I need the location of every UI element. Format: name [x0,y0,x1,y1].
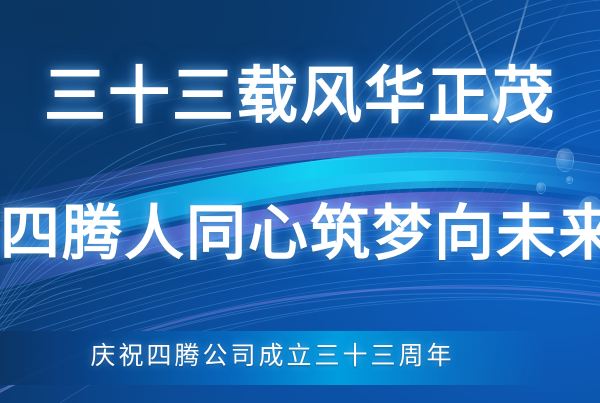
headline-line-1: 三十三载风华正茂 [44,58,556,136]
bottom-banner-text-row: 庆祝四腾公司成立三十三周年 [0,340,545,374]
headline-line-2-row: 四腾人同心筑梦向未来 [0,196,600,272]
anniversary-poster: 三十三载风华正茂 四腾人同心筑梦向未来 庆祝四腾公司成立三十三周年 [0,0,600,403]
headline-line-1-row: 三十三载风华正茂 [0,58,600,136]
bottom-banner-text: 庆祝四腾公司成立三十三周年 [90,340,454,374]
headline-line-2: 四腾人同心筑梦向未来 [0,196,600,272]
